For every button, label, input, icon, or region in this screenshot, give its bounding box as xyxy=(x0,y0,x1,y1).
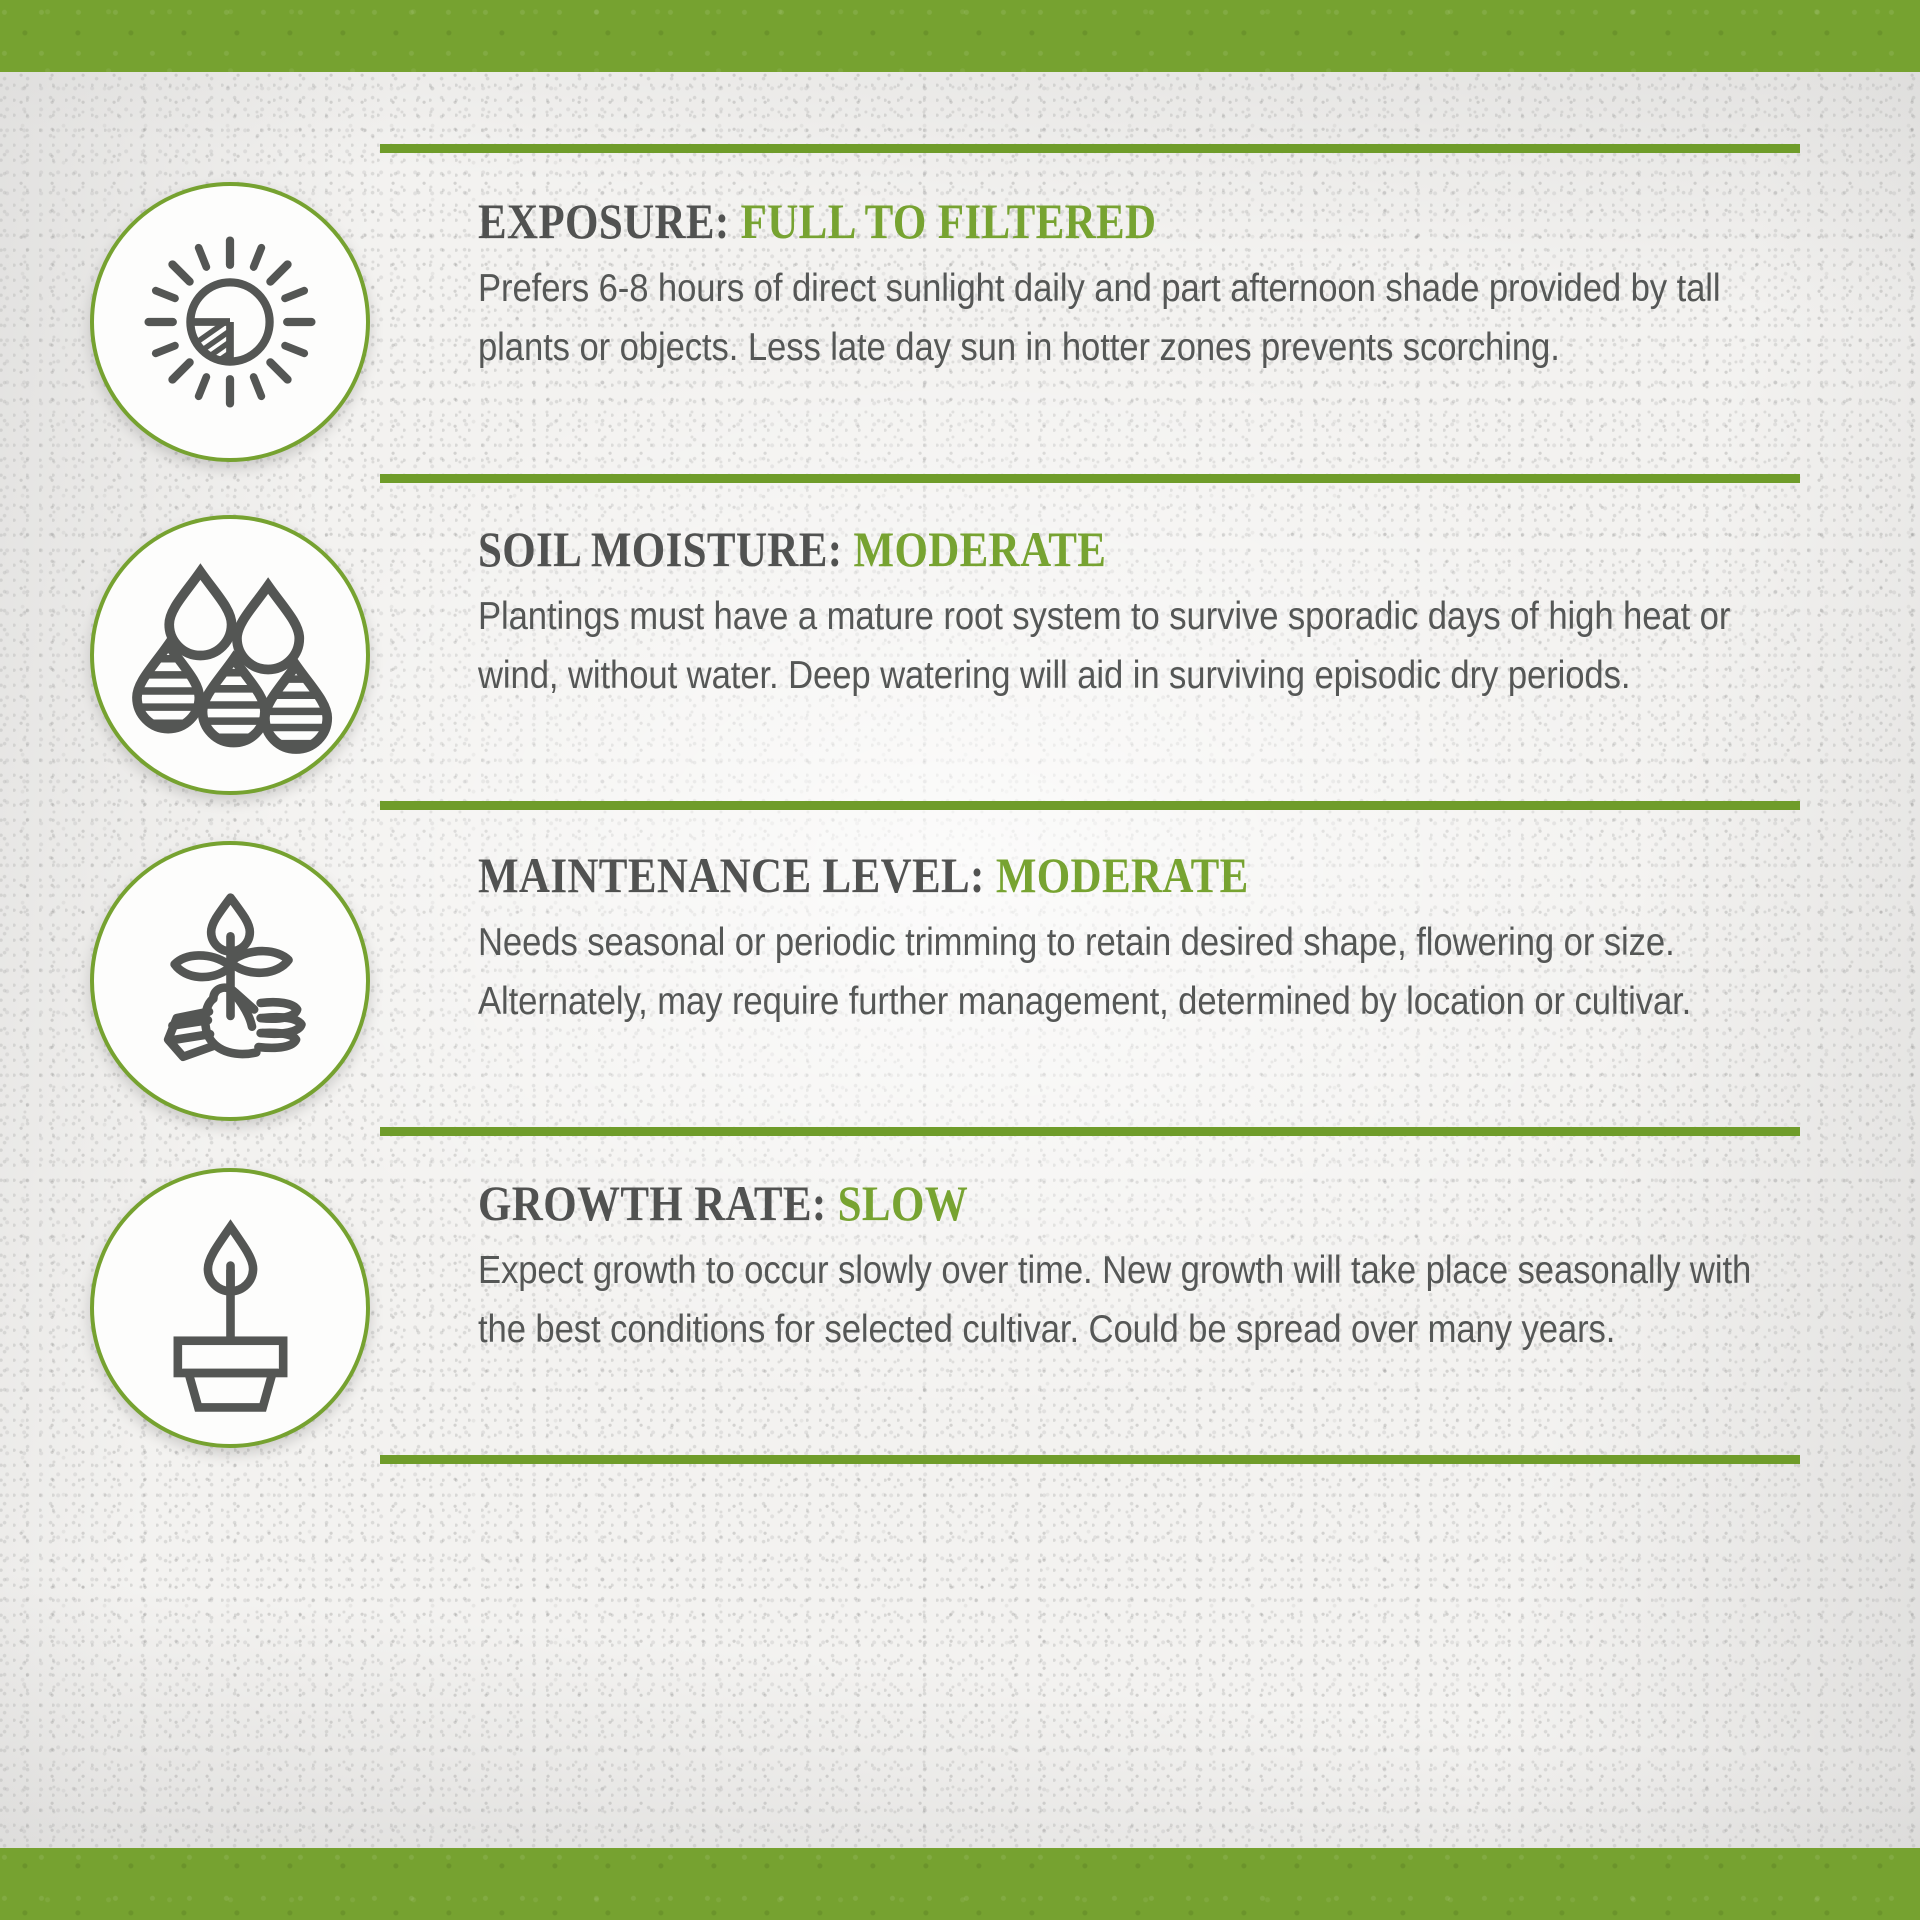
section-exposure: EXPOSURE:FULL TO FILTERED Prefers 6-8 ho… xyxy=(478,192,1800,378)
soil-moisture-value: MODERATE xyxy=(842,521,1106,577)
growth-rate-label: GROWTH RATE: xyxy=(478,1175,827,1231)
divider-3 xyxy=(380,1127,1800,1136)
sun-partial-shade-icon xyxy=(120,212,340,432)
water-drops-icon xyxy=(123,548,338,763)
maintenance-heading: MAINTENANCE LEVEL:MODERATE xyxy=(478,846,1615,904)
maintenance-label: MAINTENANCE LEVEL: xyxy=(478,847,985,903)
growth-rate-value: SLOW xyxy=(827,1175,969,1231)
exposure-body: Prefers 6-8 hours of direct sunlight dai… xyxy=(478,260,1799,378)
section-soil-moisture: SOIL MOISTURE:MODERATE Plantings must ha… xyxy=(478,520,1800,706)
soil-moisture-heading: SOIL MOISTURE:MODERATE xyxy=(478,520,1615,578)
soil-moisture-icon-circle xyxy=(90,515,370,795)
exposure-value: FULL TO FILTERED xyxy=(730,193,1157,249)
growth-rate-heading: GROWTH RATE:SLOW xyxy=(478,1174,1615,1232)
growth-rate-icon-circle xyxy=(90,1168,370,1448)
exposure-label: EXPOSURE: xyxy=(478,193,730,249)
divider-top xyxy=(380,144,1800,153)
soil-moisture-body: Plantings must have a mature root system… xyxy=(478,588,1799,706)
divider-1 xyxy=(380,474,1800,483)
soil-moisture-label: SOIL MOISTURE: xyxy=(478,521,842,577)
divider-bottom xyxy=(380,1455,1800,1464)
potted-plant-icon xyxy=(123,1201,338,1416)
section-growth-rate: GROWTH RATE:SLOW Expect growth to occur … xyxy=(478,1174,1800,1360)
hand-holding-seedling-icon xyxy=(123,874,338,1089)
plant-care-infographic: EXPOSURE:FULL TO FILTERED Prefers 6-8 ho… xyxy=(0,0,1920,1920)
exposure-icon-circle xyxy=(90,182,370,462)
divider-2 xyxy=(380,801,1800,810)
maintenance-value: MODERATE xyxy=(985,847,1249,903)
maintenance-body: Needs seasonal or periodic trimming to r… xyxy=(478,914,1799,1032)
maintenance-icon-circle xyxy=(90,841,370,1121)
section-maintenance-level: MAINTENANCE LEVEL:MODERATE Needs seasona… xyxy=(478,846,1800,1032)
exposure-heading: EXPOSURE:FULL TO FILTERED xyxy=(478,192,1615,250)
growth-rate-body: Expect growth to occur slowly over time.… xyxy=(478,1242,1799,1360)
